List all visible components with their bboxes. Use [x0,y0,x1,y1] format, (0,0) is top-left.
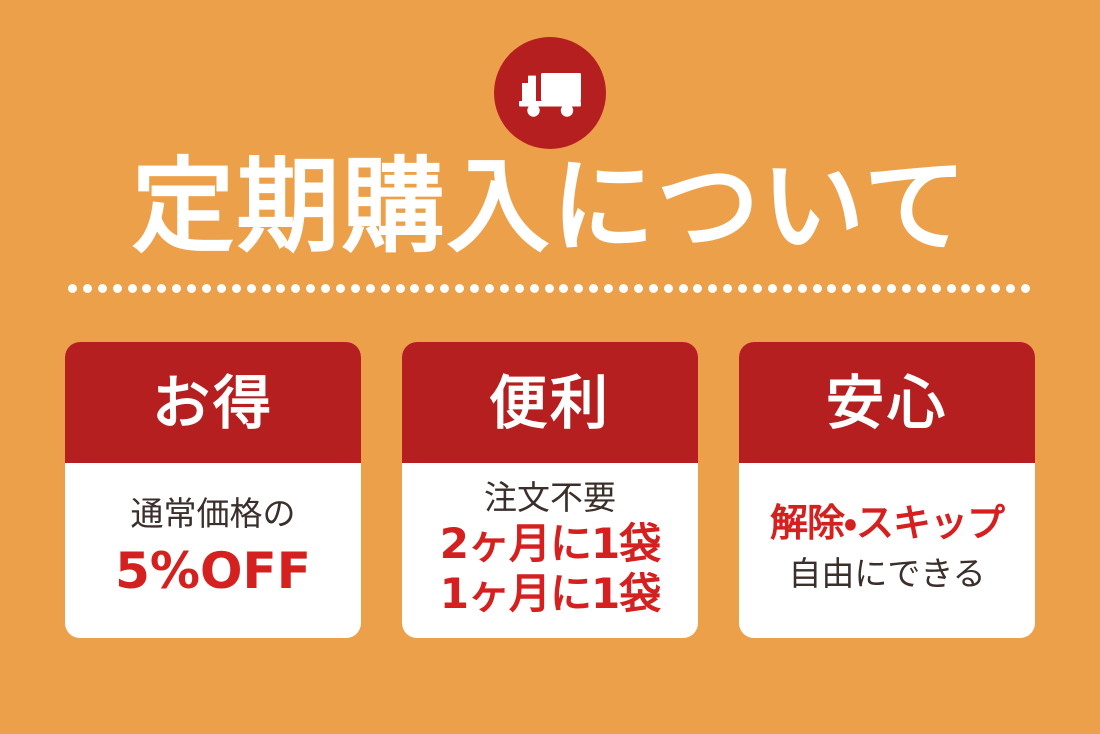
benefit-line: 注文不要 [484,479,616,517]
divider-dot [649,284,658,293]
benefit-card-heading: 便利 [402,342,698,463]
divider-dot [827,284,836,293]
divider-dot [470,284,479,293]
divider-dot [798,284,807,293]
benefit-card-otoku: お得 通常価格の 5%OFF [65,342,361,638]
divider-dot [128,284,137,293]
divider-dot [738,284,747,293]
divider-dot [336,284,345,293]
benefit-card-benri: 便利 注文不要 2ヶ月に1袋 1ヶ月に1袋 [402,342,698,638]
divider-dot [693,284,702,293]
benefit-cards: お得 通常価格の 5%OFF 便利 注文不要 2ヶ月に1袋 1ヶ月に1袋 安心 … [65,342,1035,638]
divider-dot [366,284,375,293]
delivery-truck-badge [494,37,606,149]
divider-dot [604,284,613,293]
divider-dot [783,284,792,293]
divider-dot [455,284,464,293]
divider-dot [976,284,985,293]
divider-dot [589,284,598,293]
divider-dot [306,284,315,293]
page-title: 定期購入について [0,148,1100,266]
divider-dot [872,284,881,293]
divider-dot [559,284,568,293]
divider-dot [113,284,122,293]
divider-dot [98,284,107,293]
divider-dot [842,284,851,293]
benefit-card-body: 通常価格の 5%OFF [65,463,361,638]
divider-dot [961,284,970,293]
divider-dot [217,284,226,293]
divider-dot [187,284,196,293]
divider-dot [247,284,256,293]
benefit-card-body: 解除・スキップ 自由にできる [739,463,1035,638]
divider-dot [1021,284,1030,293]
divider-dot [917,284,926,293]
divider-dot [291,284,300,293]
divider-dot [425,284,434,293]
divider-dot [708,284,717,293]
divider-dot [515,284,524,293]
divider-dot [664,284,673,293]
divider-dot [634,284,643,293]
divider-dot [619,284,628,293]
divider-dot [351,284,360,293]
benefit-card-anshin: 安心 解除・スキップ 自由にできる [739,342,1035,638]
divider-dot [530,284,539,293]
benefit-line: 通常価格の [131,495,296,533]
divider-dot [500,284,509,293]
benefit-card-heading: 安心 [739,342,1035,463]
benefit-card-heading: お得 [65,342,361,463]
divider-dot [68,284,77,293]
divider-dot [723,284,732,293]
dotted-divider [68,283,1030,294]
divider-dot [679,284,688,293]
divider-dot [142,284,151,293]
divider-dot [902,284,911,293]
divider-dot [172,284,181,293]
divider-dot [440,284,449,293]
divider-dot [276,284,285,293]
subscription-info-banner: 定期購入について お得 通常価格の 5%OFF 便利 注文不要 2ヶ月に1袋 1… [0,0,1100,734]
divider-dot [991,284,1000,293]
badge-container [0,35,1100,151]
divider-dot [857,284,866,293]
divider-dot [396,284,405,293]
divider-dot [932,284,941,293]
divider-dot [83,284,92,293]
divider-dot [1006,284,1015,293]
benefit-line-highlight: 2ヶ月に1袋 [440,520,660,569]
divider-dot [813,284,822,293]
divider-dot [485,284,494,293]
divider-dot [202,284,211,293]
delivery-truck-icon [515,69,585,117]
divider-dot [768,284,777,293]
divider-dot [574,284,583,293]
divider-dot [381,284,390,293]
divider-dot [232,284,241,293]
divider-dot [887,284,896,293]
divider-dot [947,284,956,293]
benefit-line-highlight: 5%OFF [115,542,311,600]
benefit-line-highlight: 1ヶ月に1袋 [440,570,660,619]
divider-dot [753,284,762,293]
divider-dot [262,284,271,293]
benefit-card-body: 注文不要 2ヶ月に1袋 1ヶ月に1袋 [402,463,698,638]
divider-dot [410,284,419,293]
divider-dot [545,284,554,293]
benefit-line: 自由にできる [788,555,985,593]
benefit-line-highlight: 解除・スキップ [770,501,1004,545]
divider-dot [321,284,330,293]
divider-dot [157,284,166,293]
